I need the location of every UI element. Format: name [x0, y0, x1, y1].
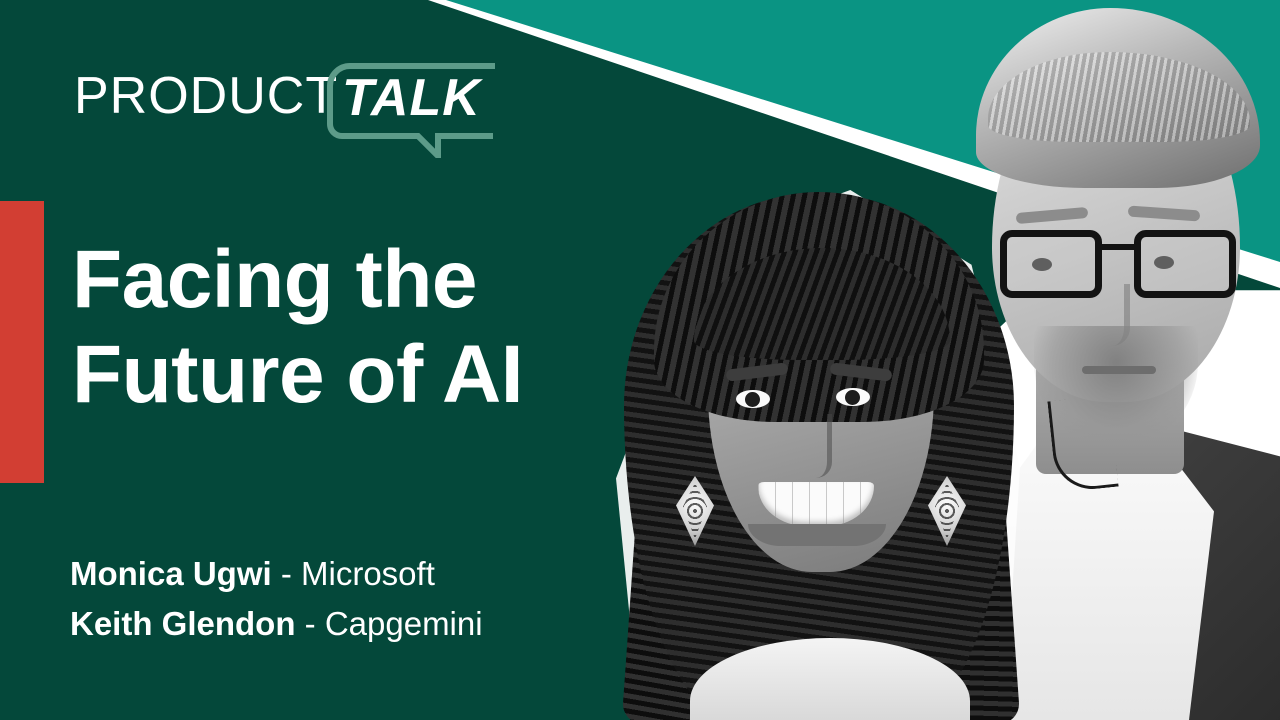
lens-right [1134, 230, 1236, 298]
eye-left [736, 390, 770, 408]
portrait-group [0, 0, 1280, 720]
lower-lip-shape [748, 524, 886, 546]
eye-right [836, 388, 870, 406]
nose-shape [798, 414, 832, 478]
glasses-bridge [1100, 244, 1138, 250]
title-slide: PRODUCT TALK Facing the Future of AI Mon… [0, 0, 1280, 720]
mouth-shape [1082, 366, 1156, 374]
portrait-monica-ugwi [598, 176, 1038, 720]
hair-shape [976, 8, 1260, 188]
